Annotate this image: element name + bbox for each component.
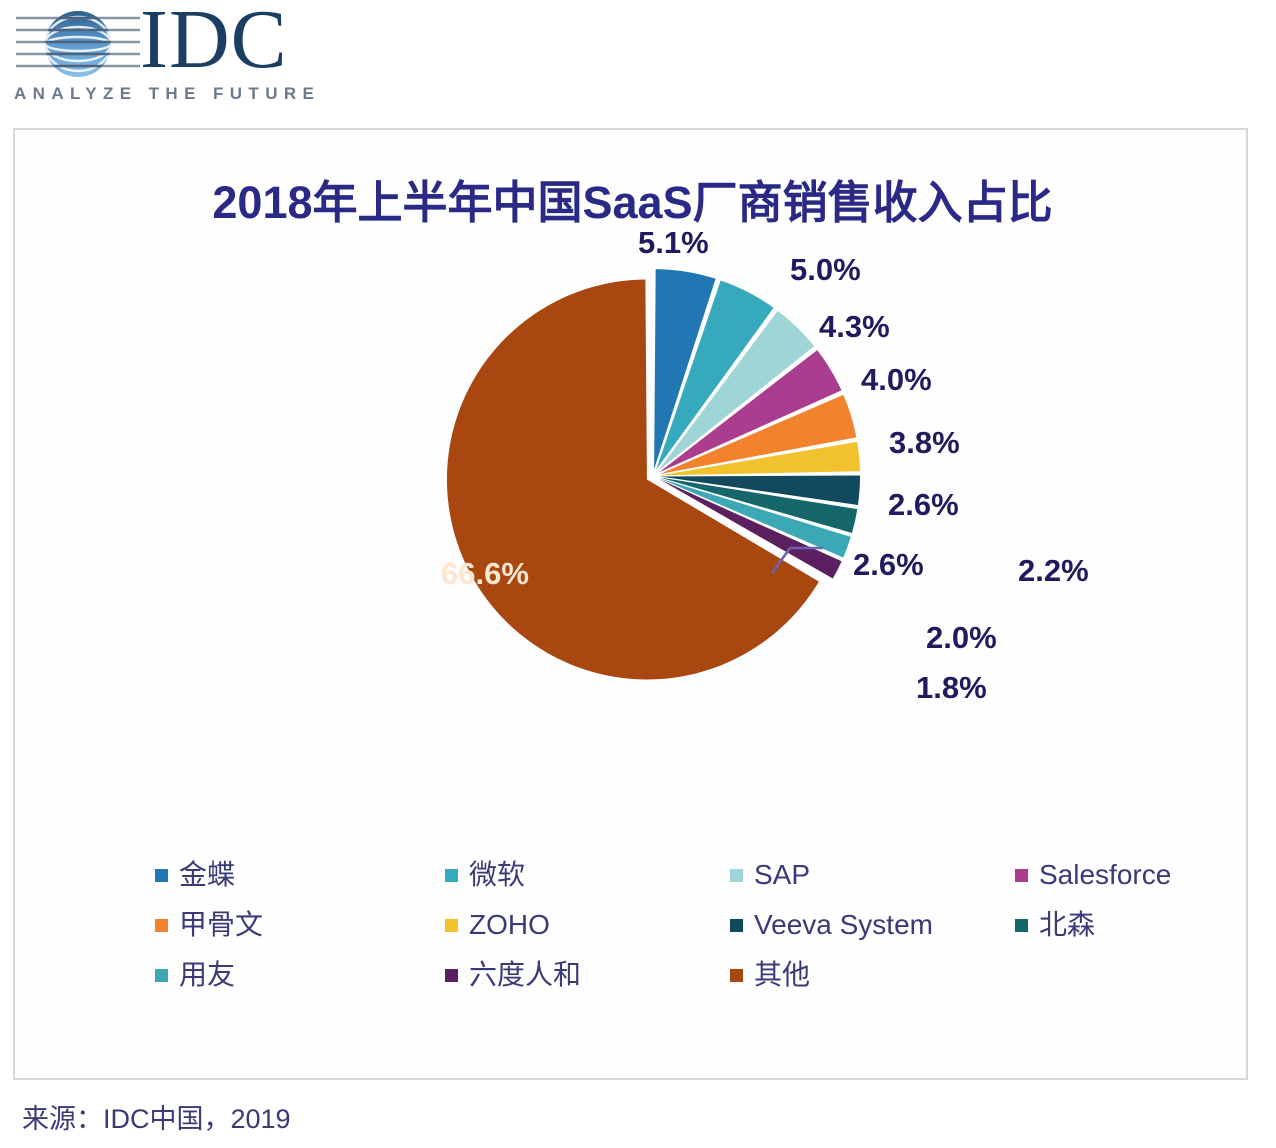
legend-swatch-icon — [445, 969, 458, 982]
legend-item[interactable]: Veeva System — [730, 910, 933, 940]
pie-label-sap: 4.3% — [819, 309, 890, 345]
source-note: 来源：IDC中国，2019 — [22, 1097, 291, 1136]
legend-label: 微软 — [469, 860, 525, 890]
legend-item[interactable]: 微软 — [445, 860, 525, 890]
legend-swatch-icon — [730, 919, 743, 932]
legend-label: Salesforce — [1039, 860, 1171, 890]
legend-label: 甲骨文 — [179, 910, 263, 940]
legend-label: Veeva System — [754, 910, 933, 940]
legend-item[interactable]: 北森 — [1015, 910, 1095, 940]
legend-swatch-icon — [730, 869, 743, 882]
pie-slice-group — [447, 269, 860, 679]
pie-label-oracle: 3.8% — [889, 425, 960, 461]
legend-label: 其他 — [754, 960, 810, 990]
legend-item[interactable]: 甲骨文 — [155, 910, 263, 940]
legend-label: 用友 — [179, 960, 235, 990]
legend-label: 六度人和 — [469, 960, 581, 990]
legend-item[interactable]: SAP — [730, 860, 810, 890]
pie-label-zoho: 2.6% — [888, 487, 959, 523]
idc-tagline: ANALYZE THE FUTURE — [14, 84, 320, 104]
legend-swatch-icon — [155, 869, 168, 882]
idc-wordmark: IDC — [140, 0, 288, 82]
legend-label: 北森 — [1039, 910, 1095, 940]
legend-swatch-icon — [155, 969, 168, 982]
pie-label-liudurenhe: 1.8% — [916, 670, 987, 706]
chart-title: 2018年上半年中国SaaS厂商销售收入占比 — [15, 166, 1250, 231]
idc-globe-icon — [14, 6, 142, 84]
pie-label-salesforce: 4.0% — [861, 362, 932, 398]
legend-swatch-icon — [445, 919, 458, 932]
pie-label-jindie: 5.1% — [638, 225, 709, 261]
pie-chart: 5.1% 5.0% 4.3% 4.0% 3.8% 2.6% 2.6% 2.2% … — [15, 230, 1250, 830]
idc-logo-bar: IDC ANALYZE THE FUTURE — [0, 0, 1276, 112]
legend-swatch-icon — [730, 969, 743, 982]
legend-swatch-icon — [155, 919, 168, 932]
legend-label: SAP — [754, 860, 810, 890]
pie-label-veeva: 2.6% — [853, 547, 924, 583]
chart-legend: 金蝶微软SAPSalesforce甲骨文ZOHOVeeva System北森用友… — [15, 860, 1250, 1020]
legend-item[interactable]: Salesforce — [1015, 860, 1171, 890]
legend-item[interactable]: 用友 — [155, 960, 235, 990]
legend-label: 金蝶 — [179, 860, 235, 890]
legend-swatch-icon — [1015, 869, 1028, 882]
legend-item[interactable]: 金蝶 — [155, 860, 235, 890]
pie-svg — [15, 230, 1250, 830]
legend-swatch-icon — [445, 869, 458, 882]
legend-item[interactable]: 六度人和 — [445, 960, 581, 990]
legend-label: ZOHO — [469, 910, 550, 940]
pie-label-other: 66.6% — [441, 556, 529, 592]
pie-label-microsoft: 5.0% — [790, 252, 861, 288]
pie-label-yonyou: 2.0% — [926, 620, 997, 656]
pie-label-beisen: 2.2% — [1018, 553, 1089, 589]
legend-item[interactable]: ZOHO — [445, 910, 550, 940]
legend-item[interactable]: 其他 — [730, 960, 810, 990]
legend-swatch-icon — [1015, 919, 1028, 932]
chart-frame: 2018年上半年中国SaaS厂商销售收入占比 5.1% 5.0% 4.3% 4.… — [13, 128, 1248, 1080]
